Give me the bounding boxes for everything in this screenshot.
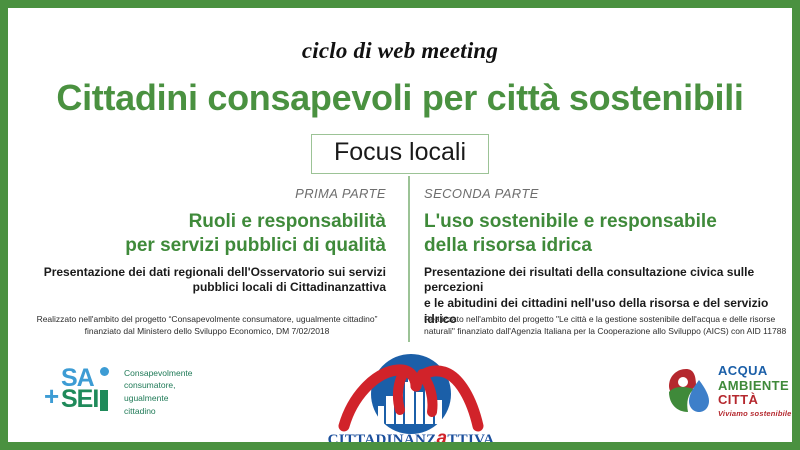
column-seconda-parte: SECONDA PARTE L'uso sostenibile e respon… xyxy=(418,186,790,328)
dot-icon xyxy=(100,367,109,376)
part-description-right-line1: Presentazione dei risultati della consul… xyxy=(424,265,790,297)
funding-note-left: Realizzato nell'ambito del progetto “Con… xyxy=(28,313,398,337)
cittadinanzattiva-word-start: CITTADINANZ xyxy=(328,432,437,448)
kicker-text: ciclo di web meeting xyxy=(8,38,792,64)
sasei-sei-text: SEI xyxy=(61,387,98,412)
funding-note-right: Realizzato nell'ambito del progetto "Le … xyxy=(418,313,790,337)
logo-cittadinanzattiva: CITTADINANZaTTIVA xyxy=(326,352,496,450)
aac-line-acqua: ACQUA xyxy=(718,364,792,379)
aac-logomark xyxy=(666,366,712,416)
part-description-left: Presentazione dei dati regionali dell'Os… xyxy=(28,265,386,297)
focus-box-connector xyxy=(408,176,410,190)
sasei-logomark: + SA SEI xyxy=(44,366,116,418)
cittadinanzattiva-wordmark: CITTADINANZaTTIVA xyxy=(326,428,496,450)
sasei-tagline-line1: Consapevolmente xyxy=(124,367,193,380)
logo-sasei: + SA SEI Consapevolmente consumatore, ug… xyxy=(44,366,193,418)
logo-acqua-ambiente-citta: ACQUA AMBIENTE CITTÀ Viviamo sostenibile xyxy=(666,364,792,417)
sasei-tagline-line3: ugualmente xyxy=(124,392,193,405)
aac-wordmark: ACQUA AMBIENTE CITTÀ Viviamo sostenibile xyxy=(718,364,792,417)
funding-note-left-line1: Realizzato nell'ambito del progetto “Con… xyxy=(28,313,386,325)
part-title-right: L'uso sostenibile e responsabile della r… xyxy=(424,210,790,258)
sasei-tagline-line4: cittadino xyxy=(124,405,193,418)
funding-note-right-line1: Realizzato nell'ambito del progetto "Le … xyxy=(424,313,790,325)
sasei-tagline-line2: consumatore, xyxy=(124,379,193,392)
cittadinanzattiva-logomark xyxy=(326,352,496,440)
part-title-left-line1: Ruoli e responsabilità xyxy=(28,210,386,234)
sasei-tagline: Consapevolmente consumatore, ugualmente … xyxy=(124,367,193,418)
aac-line-ambiente: AMBIENTE xyxy=(718,379,792,394)
aac-line-citta: CITTÀ xyxy=(718,393,792,408)
part-title-left: Ruoli e responsabilità per servizi pubbl… xyxy=(28,210,386,258)
column-prima-parte: PRIMA PARTE Ruoli e responsabilità per s… xyxy=(28,186,398,296)
page-title: Cittadini consapevoli per città sostenib… xyxy=(8,77,792,119)
part-title-right-line2: della risorsa idrica xyxy=(424,234,790,258)
column-divider xyxy=(408,180,410,342)
cittadinanzattiva-word-accent: a xyxy=(436,428,447,449)
part-title-left-line2: per servizi pubblici di qualità xyxy=(28,234,386,258)
plus-icon: + xyxy=(44,383,59,409)
slide-root: ciclo di web meeting Cittadini consapevo… xyxy=(0,0,800,450)
part-description-left-line1: Presentazione dei dati regionali dell'Os… xyxy=(28,265,386,281)
cittadinanzattiva-word-end: TTIVA xyxy=(447,432,494,448)
bar-icon xyxy=(100,390,108,411)
funding-note-right-line2: naturali" finanziato dall'Agenzia Italia… xyxy=(424,325,790,337)
aac-tagline: Viviamo sostenibile xyxy=(718,410,792,418)
focus-locali-box: Focus locali xyxy=(311,134,489,174)
part-label-right: SECONDA PARTE xyxy=(424,186,790,201)
part-label-left: PRIMA PARTE xyxy=(28,186,386,201)
part-description-left-line2: pubblici locali di Cittadinanzattiva xyxy=(28,280,386,296)
funding-note-left-line2: finanziato dal Ministero dello Sviluppo … xyxy=(28,325,386,337)
part-title-right-line1: L'uso sostenibile e responsabile xyxy=(424,210,790,234)
